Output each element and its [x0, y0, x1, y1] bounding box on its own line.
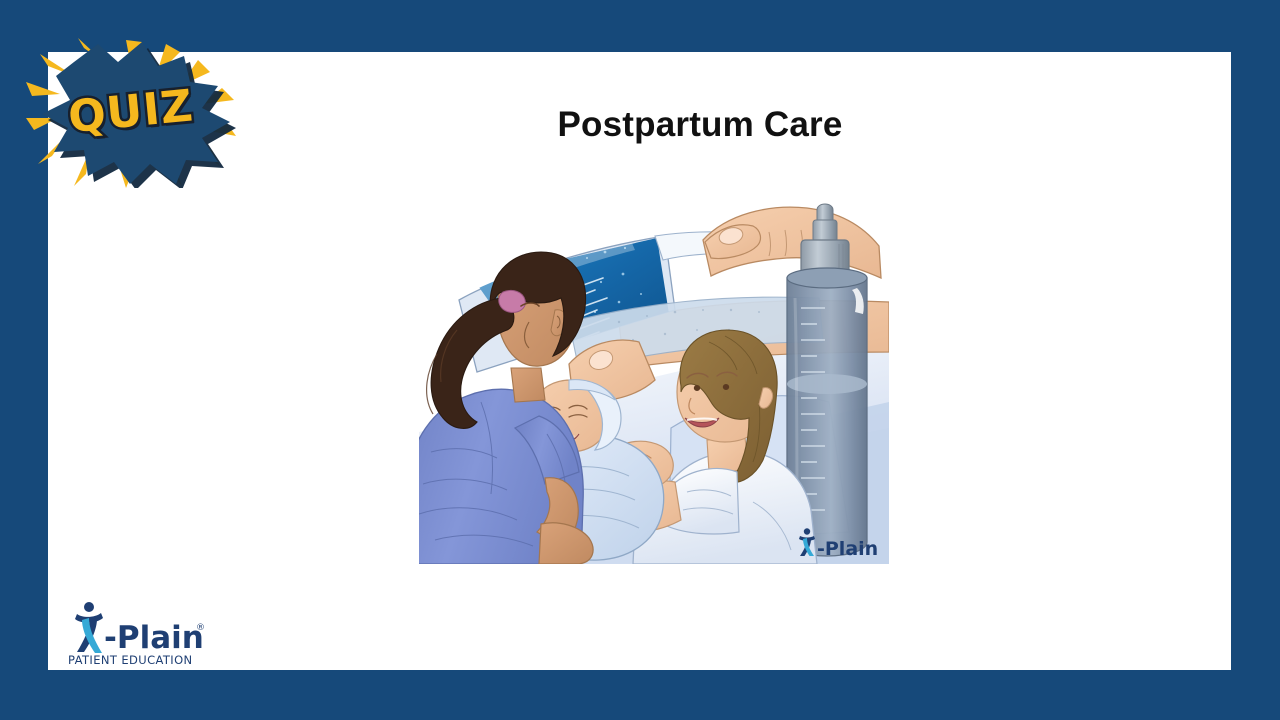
xplain-watermark: -Plain — [791, 526, 883, 558]
svg-text:PATIENT EDUCATION: PATIENT EDUCATION — [68, 653, 193, 667]
slide-stage: Postpartum Care — [0, 0, 1280, 720]
quiz-badge: QUIZ — [26, 38, 242, 188]
svg-text:®: ® — [196, 623, 205, 633]
postpartum-care-illustration: -Plain — [419, 202, 889, 564]
svg-text:-Plain: -Plain — [817, 538, 878, 558]
svg-text:-Plain: -Plain — [104, 620, 204, 656]
xplain-logo: -Plain ® PATIENT EDUCATION — [65, 598, 225, 668]
page-title: Postpartum Care — [300, 106, 1100, 145]
logo-figure-head — [84, 602, 94, 612]
